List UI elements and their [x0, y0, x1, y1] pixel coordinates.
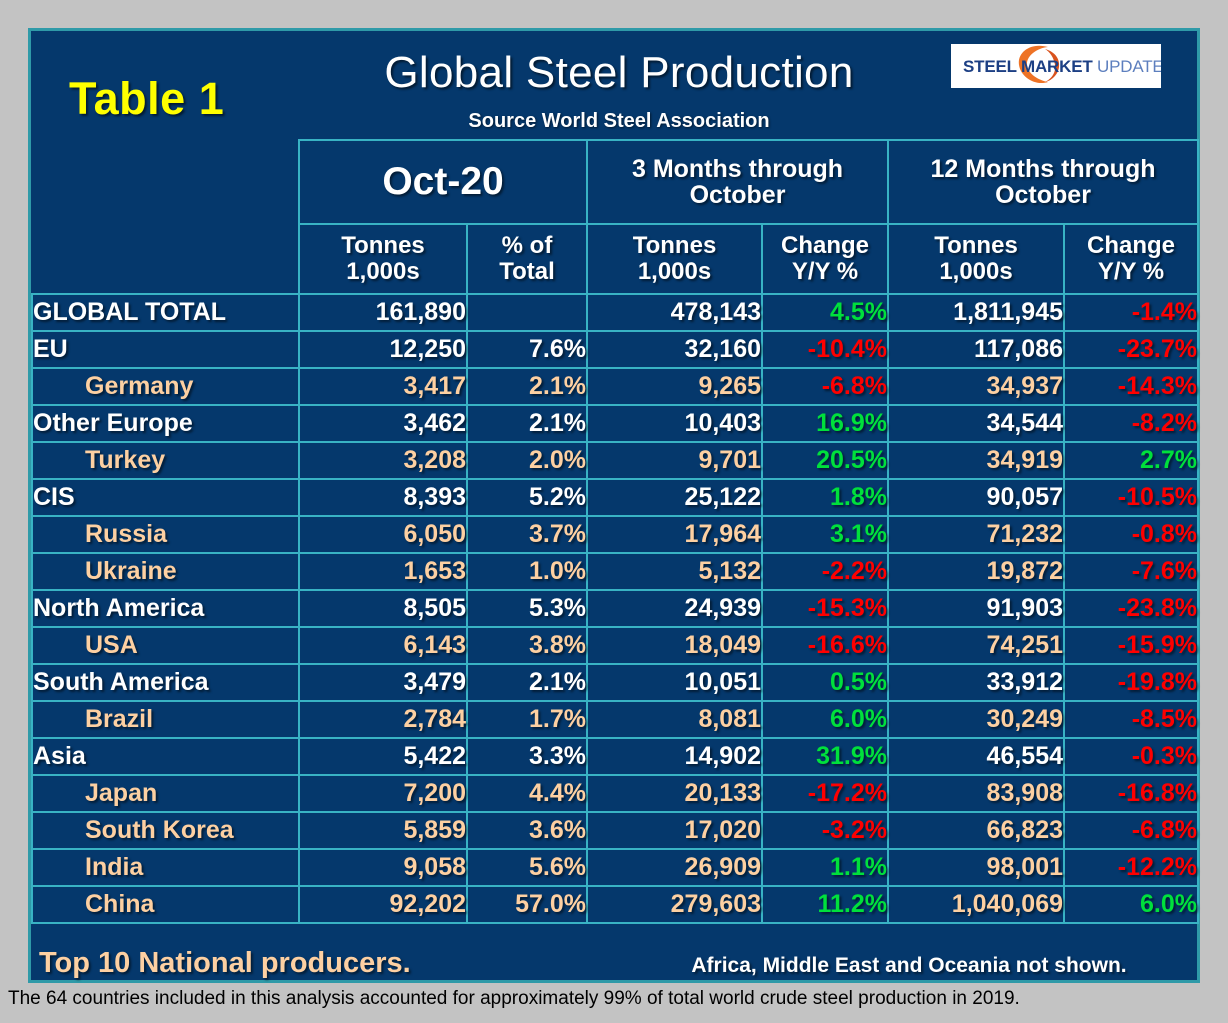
subheader-line-2: 1,000s	[889, 259, 1063, 285]
cell-oct-tonnes: 5,859	[299, 812, 467, 849]
subheader-12m-change: Change Y/Y %	[1064, 224, 1198, 294]
group-header-row: Oct-20 3 Months through October 12 Month…	[32, 140, 1198, 224]
footer-note-left: Top 10 National producers.	[39, 947, 411, 980]
cell-3m-tonnes: 26,909	[587, 849, 762, 886]
cell-3m-change: 11.2%	[762, 886, 888, 923]
cell-3m-tonnes: 8,081	[587, 701, 762, 738]
cell-oct-percent: 4.4%	[467, 775, 587, 812]
row-label: EU	[32, 331, 299, 368]
subheader-line-1: Change	[1065, 233, 1197, 259]
cell-oct-percent: 5.3%	[467, 590, 587, 627]
cell-12m-change: -19.8%	[1064, 664, 1198, 701]
header-corner-blank	[32, 140, 299, 224]
cell-oct-tonnes: 6,143	[299, 627, 467, 664]
cell-3m-change: 31.9%	[762, 738, 888, 775]
cell-oct-tonnes: 3,462	[299, 405, 467, 442]
cell-3m-tonnes: 32,160	[587, 331, 762, 368]
cell-3m-tonnes: 24,939	[587, 590, 762, 627]
group-header-12months: 12 Months through October	[888, 140, 1198, 224]
subheader-line-2: 1,000s	[300, 259, 466, 285]
cell-oct-tonnes: 6,050	[299, 516, 467, 553]
row-label: Other Europe	[32, 405, 299, 442]
steel-market-update-logo: STEEL MARKET UPDATE	[951, 44, 1161, 88]
cell-3m-tonnes: 9,701	[587, 442, 762, 479]
cell-12m-change: -23.7%	[1064, 331, 1198, 368]
row-label: India	[32, 849, 299, 886]
cell-oct-tonnes: 3,208	[299, 442, 467, 479]
cell-12m-change: -6.8%	[1064, 812, 1198, 849]
cell-12m-tonnes: 74,251	[888, 627, 1064, 664]
subheader-oct-tonnes: Tonnes 1,000s	[299, 224, 467, 294]
table-footer: Top 10 National producers. Africa, Middl…	[31, 943, 1197, 986]
cell-oct-tonnes: 5,422	[299, 738, 467, 775]
cell-12m-tonnes: 90,057	[888, 479, 1064, 516]
cell-oct-tonnes: 12,250	[299, 331, 467, 368]
cell-oct-tonnes: 2,784	[299, 701, 467, 738]
row-label: Turkey	[32, 442, 299, 479]
table-row: Ukraine1,6531.0%5,132-2.2%19,872-7.6%	[32, 553, 1198, 590]
cell-3m-change: -2.2%	[762, 553, 888, 590]
cell-12m-change: -7.6%	[1064, 553, 1198, 590]
cell-3m-change: 20.5%	[762, 442, 888, 479]
subheader-3m-change: Change Y/Y %	[762, 224, 888, 294]
cell-3m-tonnes: 478,143	[587, 294, 762, 331]
source-subtitle: Source World Steel Association	[299, 110, 939, 133]
cell-oct-tonnes: 9,058	[299, 849, 467, 886]
cell-12m-change: -12.2%	[1064, 849, 1198, 886]
cell-12m-tonnes: 1,811,945	[888, 294, 1064, 331]
cell-12m-change: -15.9%	[1064, 627, 1198, 664]
table-row: Turkey3,2082.0%9,70120.5%34,9192.7%	[32, 442, 1198, 479]
cell-12m-change: -8.2%	[1064, 405, 1198, 442]
table-row: EU12,2507.6%32,160-10.4%117,086-23.7%	[32, 331, 1198, 368]
row-label: North America	[32, 590, 299, 627]
cell-3m-change: 1.8%	[762, 479, 888, 516]
cell-oct-percent: 3.8%	[467, 627, 587, 664]
cell-3m-tonnes: 25,122	[587, 479, 762, 516]
cell-3m-change: -15.3%	[762, 590, 888, 627]
logo-steel-text: STEEL	[963, 57, 1016, 76]
row-label: Brazil	[32, 701, 299, 738]
table-row: Asia5,4223.3%14,90231.9%46,554-0.3%	[32, 738, 1198, 775]
cell-3m-tonnes: 5,132	[587, 553, 762, 590]
row-label: China	[32, 886, 299, 923]
card-header: Table 1 Global Steel Production Source W…	[31, 31, 1203, 139]
table-row: Germany3,4172.1%9,265-6.8%34,937-14.3%	[32, 368, 1198, 405]
cell-oct-percent: 3.7%	[467, 516, 587, 553]
subheader-line-1: Tonnes	[889, 233, 1063, 259]
page-title: Global Steel Production	[299, 48, 939, 98]
cell-12m-tonnes: 34,937	[888, 368, 1064, 405]
subheader-line-2: Total	[468, 259, 586, 285]
table-row: South Korea5,8593.6%17,020-3.2%66,823-6.…	[32, 812, 1198, 849]
cell-3m-change: 0.5%	[762, 664, 888, 701]
cell-3m-change: 6.0%	[762, 701, 888, 738]
cell-oct-percent: 2.1%	[467, 368, 587, 405]
cell-12m-tonnes: 71,232	[888, 516, 1064, 553]
cell-oct-tonnes: 7,200	[299, 775, 467, 812]
table-row: North America8,5055.3%24,939-15.3%91,903…	[32, 590, 1198, 627]
cell-12m-tonnes: 33,912	[888, 664, 1064, 701]
table-row: CIS8,3935.2%25,1221.8%90,057-10.5%	[32, 479, 1198, 516]
cell-12m-tonnes: 83,908	[888, 775, 1064, 812]
table-row: China92,20257.0%279,60311.2%1,040,0696.0…	[32, 886, 1198, 923]
cell-12m-tonnes: 98,001	[888, 849, 1064, 886]
cell-oct-percent: 1.0%	[467, 553, 587, 590]
cell-12m-tonnes: 117,086	[888, 331, 1064, 368]
cell-3m-tonnes: 17,964	[587, 516, 762, 553]
cell-3m-change: -6.8%	[762, 368, 888, 405]
table-row: Russia6,0503.7%17,9643.1%71,232-0.8%	[32, 516, 1198, 553]
cell-12m-change: -1.4%	[1064, 294, 1198, 331]
table-row: Brazil2,7841.7%8,0816.0%30,249-8.5%	[32, 701, 1198, 738]
cell-3m-tonnes: 10,403	[587, 405, 762, 442]
subheader-line-2: Y/Y %	[763, 259, 887, 285]
subheader-12m-tonnes: Tonnes 1,000s	[888, 224, 1064, 294]
cell-oct-percent: 5.6%	[467, 849, 587, 886]
subheader-line-1: Change	[763, 233, 887, 259]
bottom-caption: The 64 countries included in this analys…	[8, 988, 1222, 1010]
row-label: Germany	[32, 368, 299, 405]
cell-12m-tonnes: 1,040,069	[888, 886, 1064, 923]
table-row: South America3,4792.1%10,0510.5%33,912-1…	[32, 664, 1198, 701]
cell-oct-percent: 57.0%	[467, 886, 587, 923]
table-number-label: Table 1	[69, 73, 224, 125]
group-header-3months: 3 Months through October	[587, 140, 888, 224]
table-body: GLOBAL TOTAL161,890478,1434.5%1,811,945-…	[32, 294, 1198, 923]
cell-3m-change: 3.1%	[762, 516, 888, 553]
cell-oct-percent: 7.6%	[467, 331, 587, 368]
row-label: USA	[32, 627, 299, 664]
cell-12m-change: -0.8%	[1064, 516, 1198, 553]
cell-12m-change: -8.5%	[1064, 701, 1198, 738]
sub-header-row: Tonnes 1,000s % of Total Tonnes 1,000s C…	[32, 224, 1198, 294]
table-row: GLOBAL TOTAL161,890478,1434.5%1,811,945-…	[32, 294, 1198, 331]
table-row: India9,0585.6%26,9091.1%98,001-12.2%	[32, 849, 1198, 886]
table-card: Table 1 Global Steel Production Source W…	[28, 28, 1200, 983]
cell-12m-tonnes: 19,872	[888, 553, 1064, 590]
table-row: Other Europe3,4622.1%10,40316.9%34,544-8…	[32, 405, 1198, 442]
cell-12m-change: 2.7%	[1064, 442, 1198, 479]
cell-oct-tonnes: 1,653	[299, 553, 467, 590]
subheader-line-2: Y/Y %	[1065, 259, 1197, 285]
cell-oct-percent: 3.6%	[467, 812, 587, 849]
subheader-line-1: Tonnes	[588, 233, 761, 259]
cell-3m-change: -3.2%	[762, 812, 888, 849]
cell-3m-tonnes: 9,265	[587, 368, 762, 405]
cell-oct-tonnes: 3,417	[299, 368, 467, 405]
cell-oct-tonnes: 8,393	[299, 479, 467, 516]
cell-oct-percent: 2.1%	[467, 405, 587, 442]
subheader-line-1: % of	[468, 233, 586, 259]
cell-12m-change: -14.3%	[1064, 368, 1198, 405]
cell-3m-change: -10.4%	[762, 331, 888, 368]
row-label: Japan	[32, 775, 299, 812]
cell-3m-change: -17.2%	[762, 775, 888, 812]
cell-12m-tonnes: 46,554	[888, 738, 1064, 775]
cell-12m-change: -0.3%	[1064, 738, 1198, 775]
subheader-line-1: Tonnes	[300, 233, 466, 259]
row-label: South Korea	[32, 812, 299, 849]
cell-3m-change: 1.1%	[762, 849, 888, 886]
row-label: Ukraine	[32, 553, 299, 590]
table-row: USA6,1433.8%18,049-16.6%74,251-15.9%	[32, 627, 1198, 664]
logo-update-text: UPDATE	[1093, 57, 1161, 76]
cell-3m-tonnes: 14,902	[587, 738, 762, 775]
row-label: Asia	[32, 738, 299, 775]
cell-oct-tonnes: 8,505	[299, 590, 467, 627]
row-label: Russia	[32, 516, 299, 553]
cell-oct-percent: 2.0%	[467, 442, 587, 479]
cell-oct-percent: 1.7%	[467, 701, 587, 738]
cell-3m-change: -16.6%	[762, 627, 888, 664]
cell-3m-change: 16.9%	[762, 405, 888, 442]
row-label: CIS	[32, 479, 299, 516]
cell-12m-change: -23.8%	[1064, 590, 1198, 627]
logo-wordmark: STEEL MARKET UPDATE	[963, 57, 1161, 77]
cell-12m-tonnes: 34,544	[888, 405, 1064, 442]
logo-market-text: MARKET	[1016, 57, 1092, 76]
cell-3m-tonnes: 20,133	[587, 775, 762, 812]
subheader-oct-pct: % of Total	[467, 224, 587, 294]
cell-oct-percent: 5.2%	[467, 479, 587, 516]
screenshot-root: Table 1 Global Steel Production Source W…	[0, 0, 1228, 1023]
cell-3m-tonnes: 17,020	[587, 812, 762, 849]
footer-note-right: Africa, Middle East and Oceania not show…	[631, 954, 1187, 978]
cell-3m-tonnes: 10,051	[587, 664, 762, 701]
cell-3m-change: 4.5%	[762, 294, 888, 331]
cell-oct-tonnes: 161,890	[299, 294, 467, 331]
cell-12m-change: -16.8%	[1064, 775, 1198, 812]
cell-12m-tonnes: 30,249	[888, 701, 1064, 738]
subheader-corner-blank	[32, 224, 299, 294]
steel-production-table: Oct-20 3 Months through October 12 Month…	[31, 139, 1199, 924]
cell-oct-tonnes: 92,202	[299, 886, 467, 923]
cell-12m-tonnes: 66,823	[888, 812, 1064, 849]
row-label: GLOBAL TOTAL	[32, 294, 299, 331]
cell-oct-percent: 3.3%	[467, 738, 587, 775]
cell-3m-tonnes: 279,603	[587, 886, 762, 923]
cell-3m-tonnes: 18,049	[587, 627, 762, 664]
cell-12m-change: 6.0%	[1064, 886, 1198, 923]
cell-12m-change: -10.5%	[1064, 479, 1198, 516]
cell-oct-percent	[467, 294, 587, 331]
table-row: Japan7,2004.4%20,133-17.2%83,908-16.8%	[32, 775, 1198, 812]
cell-12m-tonnes: 91,903	[888, 590, 1064, 627]
cell-oct-percent: 2.1%	[467, 664, 587, 701]
subheader-3m-tonnes: Tonnes 1,000s	[587, 224, 762, 294]
group-header-oct20: Oct-20	[299, 140, 587, 224]
cell-12m-tonnes: 34,919	[888, 442, 1064, 479]
subheader-line-2: 1,000s	[588, 259, 761, 285]
cell-oct-tonnes: 3,479	[299, 664, 467, 701]
row-label: South America	[32, 664, 299, 701]
